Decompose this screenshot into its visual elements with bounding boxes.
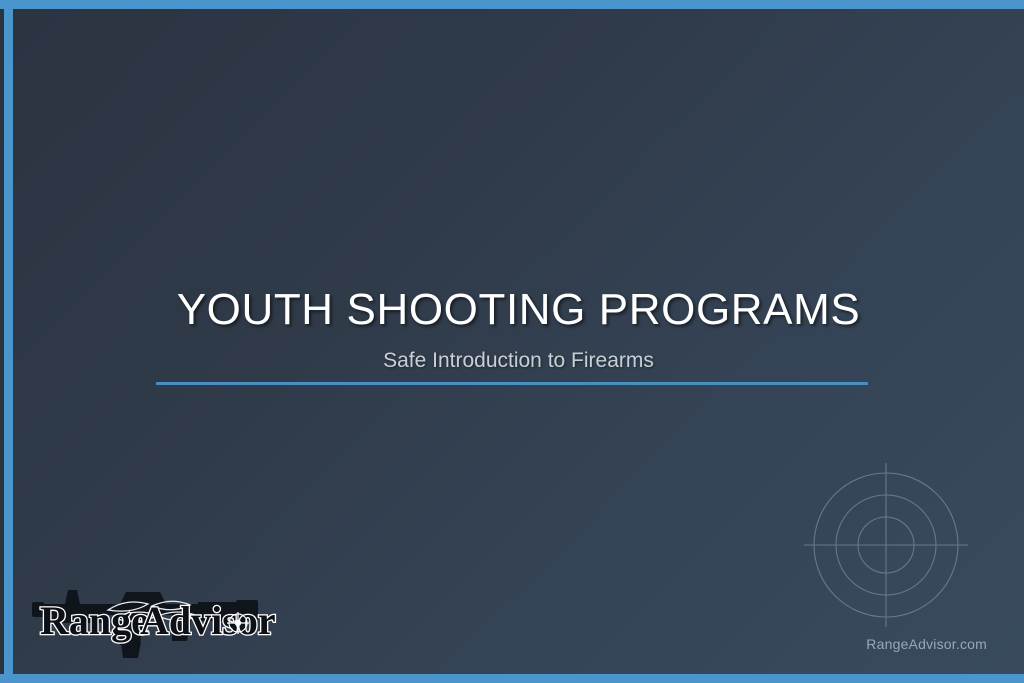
frame-band-bottom — [0, 674, 1024, 683]
page-subtitle: Safe Introduction to Firearms — [13, 348, 1024, 373]
brand-wordmark-advisor: Advisor — [140, 598, 276, 643]
title-block: YOUTH SHOOTING PROGRAMS Safe Introductio… — [13, 285, 1024, 373]
brand-logo: Range Advisor — [22, 576, 278, 660]
brand-wordmark: Range Advisor — [40, 598, 276, 643]
crosshair-target-icon — [798, 457, 974, 633]
accent-divider — [156, 382, 868, 385]
brand-wordmark-range: Range — [40, 598, 149, 643]
page-title: YOUTH SHOOTING PROGRAMS — [13, 285, 1024, 336]
presentation-slide-canvas: YOUTH SHOOTING PROGRAMS Safe Introductio… — [0, 0, 1024, 683]
frame-band-top — [0, 0, 1024, 9]
footer-website-url: RangeAdvisor.com — [866, 636, 987, 652]
title-slide: YOUTH SHOOTING PROGRAMS Safe Introductio… — [13, 9, 1024, 674]
frame-band-left — [4, 0, 13, 683]
